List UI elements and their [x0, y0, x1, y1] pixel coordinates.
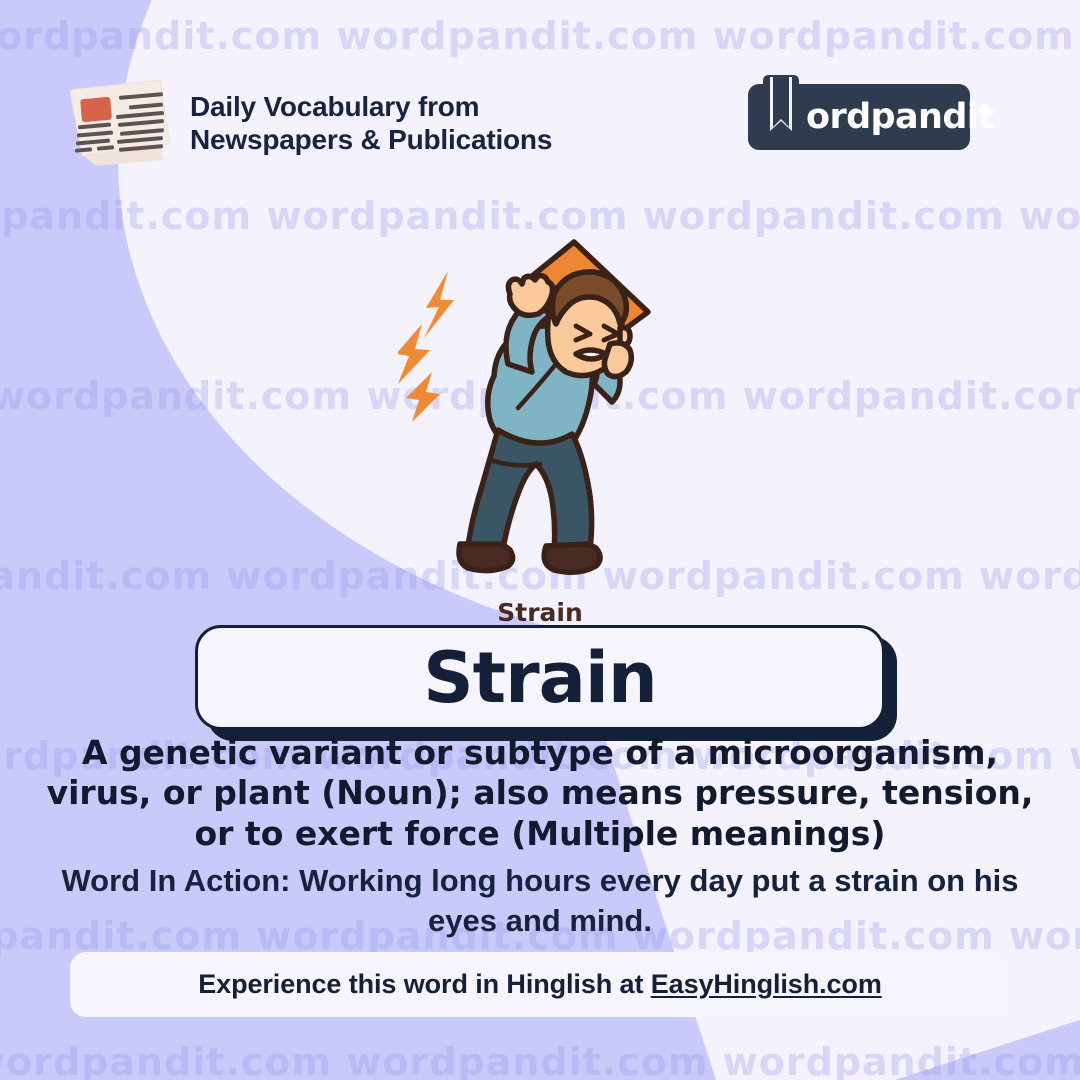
wordpandit-logo[interactable]: ordpandit — [748, 84, 970, 150]
easyhinglish-link[interactable]: EasyHinglish.com — [651, 969, 882, 999]
header: Daily Vocabulary from Newspapers & Publi… — [0, 0, 1080, 200]
word-card-body: Strain — [195, 625, 885, 730]
man-carrying-heavy-box-strain-icon — [398, 232, 682, 600]
word-card: Strain — [195, 625, 885, 730]
word-in-action-sentence: Word In Action: Working long hours every… — [60, 861, 1020, 940]
bookmark-w-icon — [758, 75, 804, 139]
word-definition: A genetic variant or subtype of a microo… — [40, 733, 1040, 854]
header-title: Daily Vocabulary from Newspapers & Publi… — [190, 90, 552, 156]
newspaper-icon — [56, 70, 180, 168]
header-title-line2: Newspapers & Publications — [190, 123, 552, 156]
footer-prefix: Experience this word in Hinglish at — [198, 969, 651, 999]
logo-text: ordpandit — [806, 84, 994, 150]
header-title-line1: Daily Vocabulary from — [190, 90, 552, 123]
illustration-caption: Strain — [0, 598, 1080, 627]
page-title: Strain — [423, 643, 656, 713]
footer-text: Experience this word in Hinglish at Easy… — [198, 969, 881, 1000]
footer-bar: Experience this word in Hinglish at Easy… — [70, 952, 1010, 1017]
